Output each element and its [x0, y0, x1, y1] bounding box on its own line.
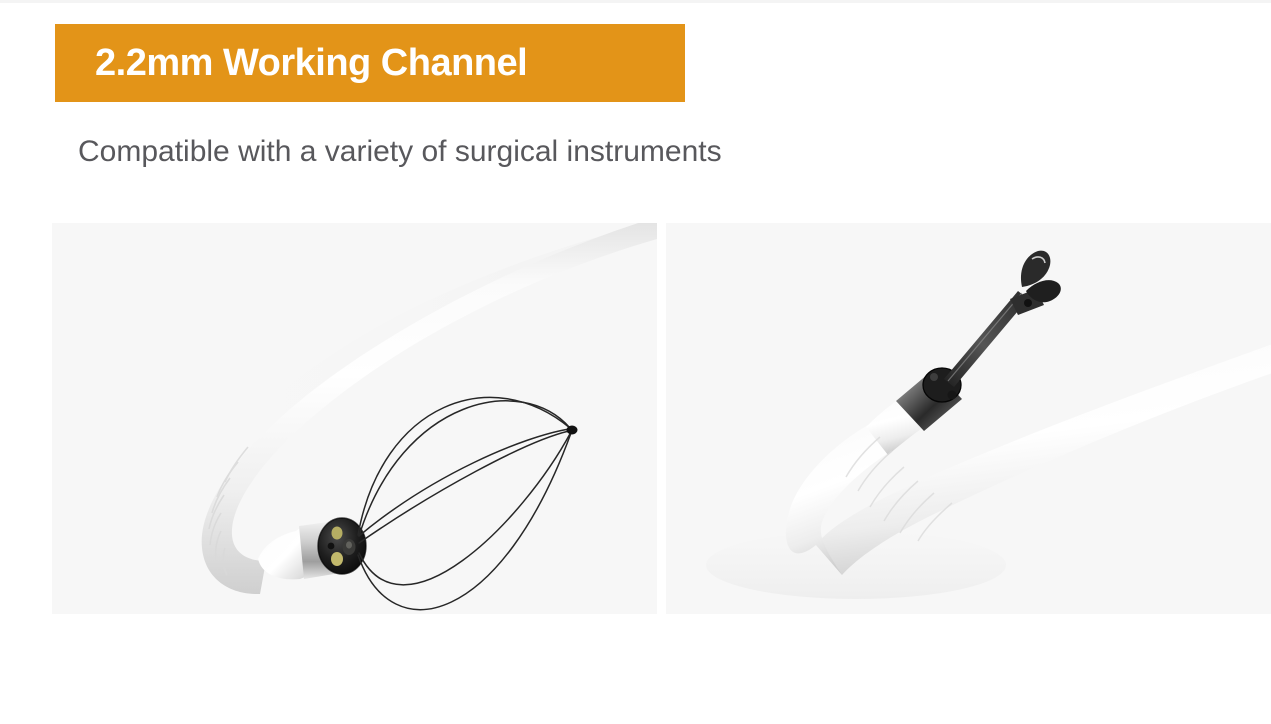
page-title: 2.2mm Working Channel — [95, 44, 527, 82]
top-divider-rule — [0, 0, 1271, 3]
endoscope-with-biopsy-forceps-illustration — [666, 223, 1271, 614]
objective-lens — [930, 373, 938, 381]
endoscope-with-retrieval-basket-illustration — [52, 223, 657, 614]
image-panel-endoscope-forceps — [666, 223, 1271, 614]
basket-distal-tip — [567, 426, 578, 435]
image-panel-group — [52, 223, 1271, 614]
working-channel-opening — [948, 391, 957, 400]
illumination-port-lower — [331, 552, 343, 566]
image-panel-endoscope-basket — [52, 223, 657, 614]
working-channel-opening — [328, 543, 335, 550]
heading-banner: 2.2mm Working Channel — [55, 24, 685, 102]
forceps-pivot-pin — [1024, 299, 1032, 307]
illumination-port-upper — [332, 527, 343, 540]
page-subtitle: Compatible with a variety of surgical in… — [78, 132, 722, 171]
page-root: 2.2mm Working Channel Compatible with a … — [0, 0, 1271, 724]
objective-lens-highlight — [346, 541, 352, 548]
